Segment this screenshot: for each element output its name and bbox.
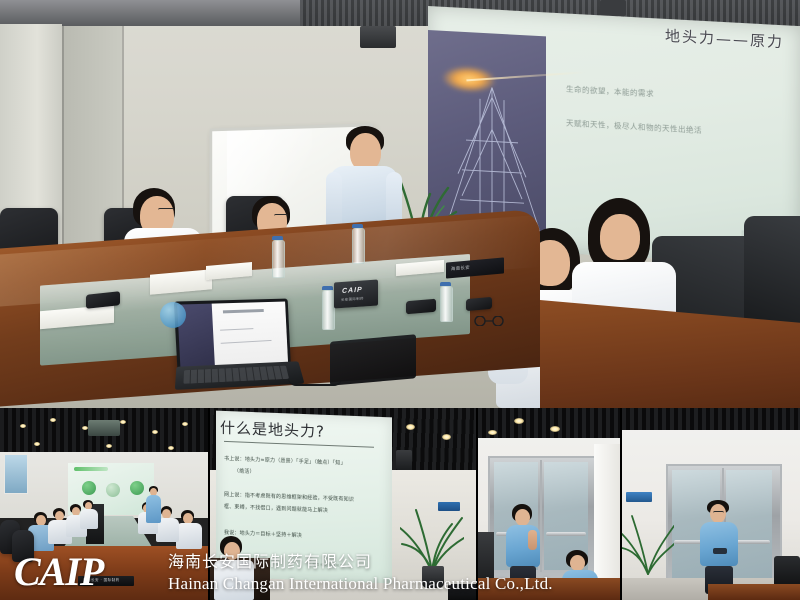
exit-sign <box>438 502 460 511</box>
slide-underline <box>224 441 374 448</box>
downlight-icon <box>550 426 560 432</box>
bottle-cap <box>352 224 363 228</box>
laptop-slide-title-line <box>222 309 264 313</box>
laptop-slide-text-line <box>220 328 253 331</box>
keyboard-keys <box>183 366 289 384</box>
company-name-cn: 海南长安国际制药有限公司 <box>168 548 372 572</box>
cable <box>288 378 342 386</box>
ceiling-speaker-secondary-icon <box>600 0 626 16</box>
downlight-icon <box>50 418 56 422</box>
tissue-box-subtitle: 长安国际制药 <box>341 295 364 302</box>
slide-line-1: 生命的欲望，本能的需求 <box>566 83 654 99</box>
eyeglasses-icon <box>472 316 508 326</box>
ceiling-projector <box>88 420 120 436</box>
water-bottle <box>440 286 453 322</box>
diagram-circle-3 <box>130 481 144 495</box>
photo-collage: 地头力——原力 生命的欲望，本能的需求 天赋和天性，极尽人和物的天性出绝活 阳光… <box>0 0 800 600</box>
downlight-icon <box>34 442 40 446</box>
eyeglasses-icon <box>713 511 724 515</box>
slide-title: 地头力——原力 <box>665 25 784 52</box>
tissue-box-logo: CAIP <box>342 287 363 295</box>
smartphone-icon <box>406 299 436 315</box>
downlight-icon <box>406 424 415 430</box>
diagram-circle-2 <box>106 483 120 497</box>
downlight-icon <box>20 424 26 428</box>
downlight-icon <box>442 434 451 440</box>
slide-title-bar <box>74 467 108 471</box>
ceiling-grille <box>478 408 620 438</box>
slide-line-3: 网上说：指不考虑既有的思维框架和经验，不受既有知识 <box>224 491 354 503</box>
eyeglasses-icon <box>274 214 288 218</box>
diagram-circle-1 <box>82 481 96 495</box>
water-bottle <box>272 240 285 278</box>
nameplate-text: 海南长安 <box>451 264 470 272</box>
panel-conference-room-presentation: 地头力——原力 生命的欲望，本能的需求 天赋和天性，极尽人和物的天性出绝活 阳光… <box>0 0 800 408</box>
ceiling-speaker-icon <box>396 450 412 470</box>
wall-poster <box>4 454 28 494</box>
desk-mat <box>330 334 416 386</box>
downlight-icon <box>120 420 126 424</box>
badge-icon <box>160 302 186 328</box>
slide-title: 什么是地头力? <box>220 417 325 442</box>
downlight-icon <box>514 418 524 424</box>
bottle-cap <box>322 286 333 290</box>
downlight-icon <box>106 444 112 448</box>
ceiling-speaker-icon <box>360 26 396 48</box>
slide-line-4: 框、束缚，不找借口，遇到问题就能马上解决 <box>224 503 328 514</box>
ceiling-grille <box>622 408 800 430</box>
head <box>600 214 640 260</box>
slide-line-2: 天赋和天性，极尽人和物的天性出绝活 <box>566 117 702 135</box>
watermark: CAIP 海南长安国际制药有限公司 Hainan Changan Interna… <box>0 540 800 600</box>
torso <box>146 495 161 523</box>
tissue-box: CAIP 长安国际制药 <box>334 279 378 308</box>
bottle-cap <box>440 282 451 286</box>
smartphone-icon <box>466 297 492 311</box>
caip-logo: CAIP <box>14 552 103 592</box>
downlight-icon <box>152 430 158 434</box>
slide-line-2: （绝活） <box>234 467 255 475</box>
water-bottle <box>352 228 365 264</box>
exit-sign <box>626 492 652 502</box>
head <box>515 509 530 526</box>
slide-line-1: 书上说：地头力=原力（愿景）「手足」（触点）「知」 <box>224 455 346 467</box>
downlight-icon <box>488 430 497 435</box>
torso <box>80 509 98 529</box>
bottle-cap <box>272 236 283 240</box>
laptop-slide-text-line <box>221 340 271 344</box>
company-name-en: Hainan Changan International Pharmaceuti… <box>168 574 553 594</box>
door-push-bar[interactable] <box>546 532 586 536</box>
downlight-icon <box>168 446 174 450</box>
eyeglasses-icon <box>158 208 174 212</box>
downlight-icon <box>182 422 188 426</box>
